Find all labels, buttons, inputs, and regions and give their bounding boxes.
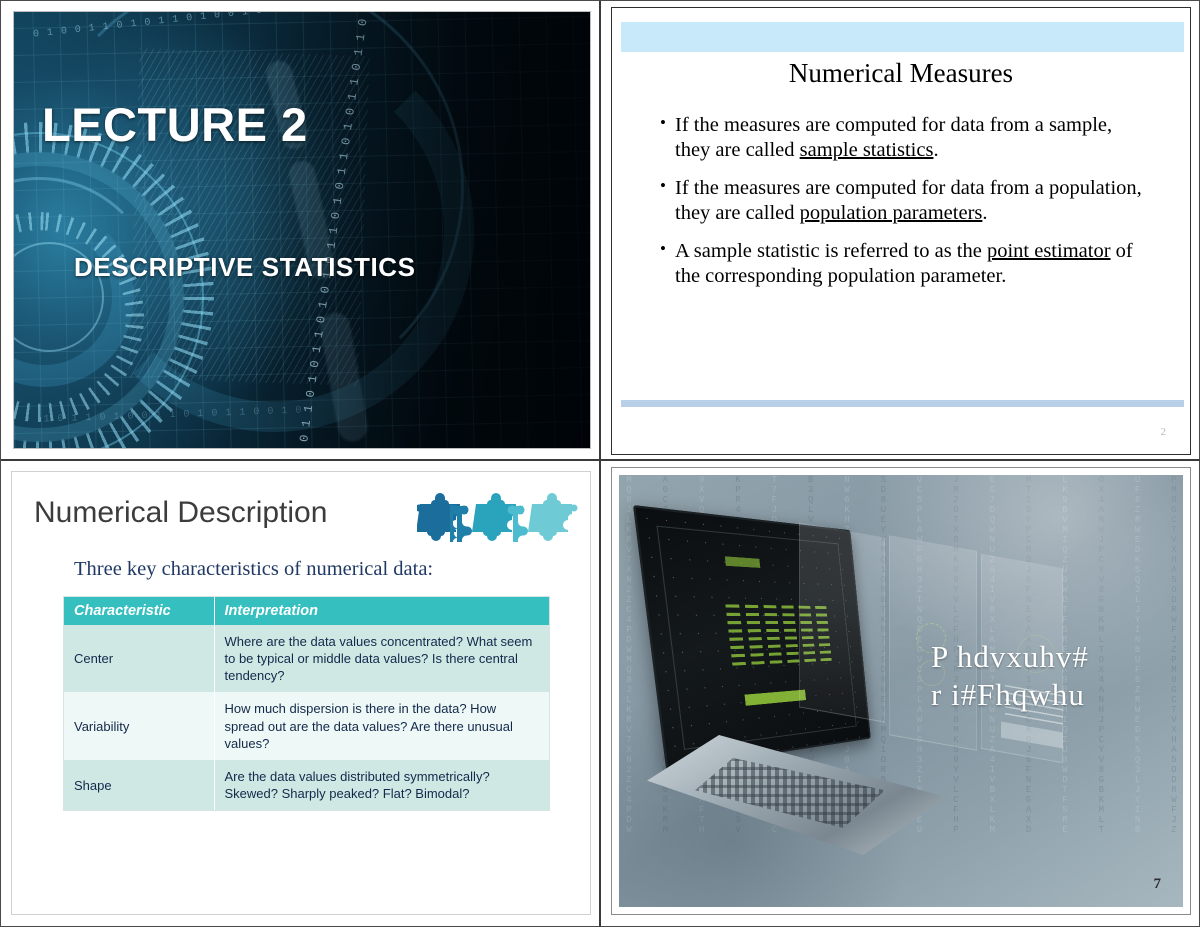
slide-heading: Numerical Description [34, 496, 327, 530]
lecture-title: LECTURE 2 [42, 97, 308, 152]
bullet-item: A sample statistic is referred to as the… [660, 239, 1150, 290]
bullet-list: If the measures are computed for data fr… [660, 113, 1150, 301]
slide-numerical-description[interactable]: Numerical Description [11, 471, 591, 915]
table-row: ShapeAre the data values distributed sym… [64, 760, 549, 810]
slide-heading-line-2: r i#Fhqwhu [931, 676, 1161, 714]
top-accent-band [621, 22, 1184, 52]
tech-background: 0 1 0 0 1 1 0 1 0 1 1 0 1 0 0 1 0 1 1 0 … [14, 12, 590, 448]
slide-measures-of-center[interactable]: MQ8JLKRV7XN2ZC4PDWMQ8JLKRV7XN2ZC4PDWA0C3… [611, 467, 1191, 915]
characteristics-table: Characteristic Interpretation CenterWher… [64, 597, 549, 810]
bullet-item: If the measures are computed for data fr… [660, 176, 1150, 227]
cell-interpretation: Where are the data values concentrated? … [214, 625, 549, 692]
slide-grid: 0 1 0 0 1 1 0 1 0 1 1 0 1 0 0 1 0 1 1 0 … [1, 1, 1199, 926]
slide-numerical-measures[interactable]: Numerical Measures If the measures are c… [611, 7, 1191, 455]
cell-characteristic: Center [64, 625, 214, 692]
puzzle-pieces-icon [417, 490, 591, 542]
column-header-interpretation: Interpretation [214, 597, 549, 625]
column-header-characteristic: Characteristic [64, 597, 214, 625]
slide-cell-4: MQ8JLKRV7XN2ZC4PDWMQ8JLKRV7XN2ZC4PDWA0C3… [601, 461, 1200, 927]
slide-cell-2: Numerical Measures If the measures are c… [601, 1, 1200, 461]
slide-heading-line-1: P hdvxuhv# [931, 638, 1161, 676]
bullet-item: If the measures are computed for data fr… [660, 113, 1150, 164]
lecture-subtitle: DESCRIPTIVE STATISTICS [74, 252, 416, 283]
handout-page: 0 1 0 0 1 1 0 1 0 1 1 0 1 0 0 1 0 1 1 0 … [0, 0, 1200, 927]
bullet-key-term: population parameters [800, 202, 983, 224]
page-number: 7 [1154, 876, 1162, 893]
cell-interpretation: How much dispersion is there in the data… [214, 692, 549, 759]
bullet-key-term: sample statistics [800, 139, 934, 161]
laptop-hologram-photo: MQ8JLKRV7XN2ZC4PDWMQ8JLKRV7XN2ZC4PDWA0C3… [619, 475, 1183, 907]
table-row: VariabilityHow much dispersion is there … [64, 692, 549, 759]
table-row: CenterWhere are the data values concentr… [64, 625, 549, 692]
table-header-row: Characteristic Interpretation [64, 597, 549, 625]
vignette-overlay [14, 12, 590, 448]
slide-heading: P hdvxuhv# r i#Fhqwhu [931, 638, 1161, 714]
cell-characteristic: Variability [64, 692, 214, 759]
bottom-accent-band [621, 400, 1184, 407]
page-number: 2 [1161, 426, 1167, 438]
slide-cell-1: 0 1 0 0 1 1 0 1 0 1 1 0 1 0 0 1 0 1 1 0 … [1, 1, 601, 461]
hologram-panel [799, 522, 885, 722]
slide-heading: Numerical Measures [612, 58, 1190, 89]
cell-characteristic: Shape [64, 760, 214, 810]
slide-cell-3: Numerical Description [1, 461, 601, 927]
cell-interpretation: Are the data values distributed symmetri… [214, 760, 549, 810]
bullet-key-term: point estimator [987, 240, 1111, 262]
slide-subtitle: Three key characteristics of numerical d… [74, 558, 433, 581]
slide-title-lecture[interactable]: 0 1 0 0 1 1 0 1 0 1 1 0 1 0 0 1 0 1 1 0 … [13, 11, 591, 449]
